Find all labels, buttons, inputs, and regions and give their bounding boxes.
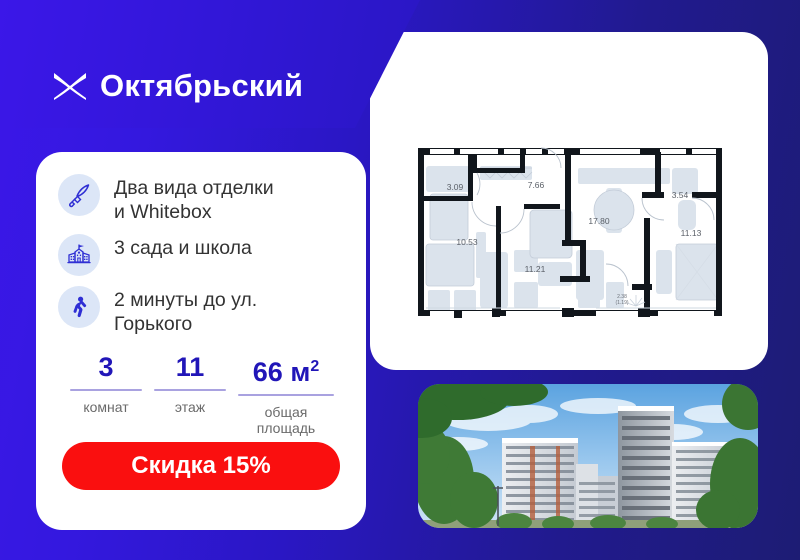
feature-list: Два вида отделки и Whitebox: [58, 174, 358, 346]
stat-value: 11: [148, 352, 232, 382]
promo-card-root: Октябрьский Два вида отделки и Whitebox: [0, 0, 800, 560]
floorplan[interactable]: 3.09 7.66 3.54 10.53 17.80 11.21 11.13 2…: [410, 132, 730, 332]
pedestrian-icon: [58, 286, 100, 328]
stat-divider: [154, 389, 226, 391]
stat-label: комнат: [64, 399, 148, 415]
brand-banner: [0, 0, 420, 128]
stat-label: этаж: [148, 399, 232, 415]
brand-logo[interactable]: Октябрьский: [52, 68, 303, 104]
stat-rooms: 3 комнат: [64, 352, 148, 436]
feature-text: Два вида отделки и Whitebox: [114, 174, 274, 224]
stat-divider: [70, 389, 142, 391]
building-render: [418, 384, 758, 528]
room-area-label: 3.09: [447, 182, 464, 192]
school-icon: [58, 234, 100, 276]
room-area-label: 7.66: [528, 180, 545, 190]
plant-icon: [627, 295, 645, 306]
trowel-icon: [58, 174, 100, 216]
stat-area-sup: 2: [310, 358, 319, 375]
stats-row: 3 комнат 11 этаж 66 м2 общая площадь: [64, 352, 340, 436]
stat-value: 3: [64, 352, 148, 382]
room-area-label: 17.80: [588, 216, 610, 226]
balcony-coef-label: (1.19): [615, 300, 628, 306]
room-area-label: 11.13: [681, 228, 702, 238]
x-mark-icon: [52, 71, 88, 101]
stat-area: 66 м2 общая площадь: [232, 352, 340, 436]
room-area-label: 11.21: [525, 264, 546, 274]
room-area-label: 10.53: [456, 237, 478, 247]
floorplan-drawing: 3.09 7.66 3.54 10.53 17.80 11.21 11.13 2…: [410, 132, 730, 332]
stat-value: 66 м2: [232, 352, 340, 387]
stat-floor: 11 этаж: [148, 352, 232, 436]
floorplan-card: 3.09 7.66 3.54 10.53 17.80 11.21 11.13 2…: [370, 32, 768, 370]
feature-item: Два вида отделки и Whitebox: [58, 174, 358, 224]
stat-divider: [238, 394, 334, 396]
stat-area-number: 66: [253, 357, 283, 387]
room-area-label: 3.54: [672, 190, 689, 200]
feature-item: 3 сада и школа: [58, 234, 358, 276]
brand-name: Октябрьский: [100, 68, 303, 104]
left-info-card: Два вида отделки и Whitebox: [36, 152, 366, 530]
feature-text: 3 сада и школа: [114, 234, 252, 260]
feature-text: 2 минуты до ул. Горького: [114, 286, 257, 336]
stat-label: общая площадь: [232, 404, 340, 436]
feature-item: 2 минуты до ул. Горького: [58, 286, 358, 336]
discount-button[interactable]: Скидка 15%: [62, 442, 340, 490]
tower-left: [502, 438, 578, 526]
building-photo: [418, 384, 758, 528]
stat-area-unit: м: [290, 357, 310, 387]
